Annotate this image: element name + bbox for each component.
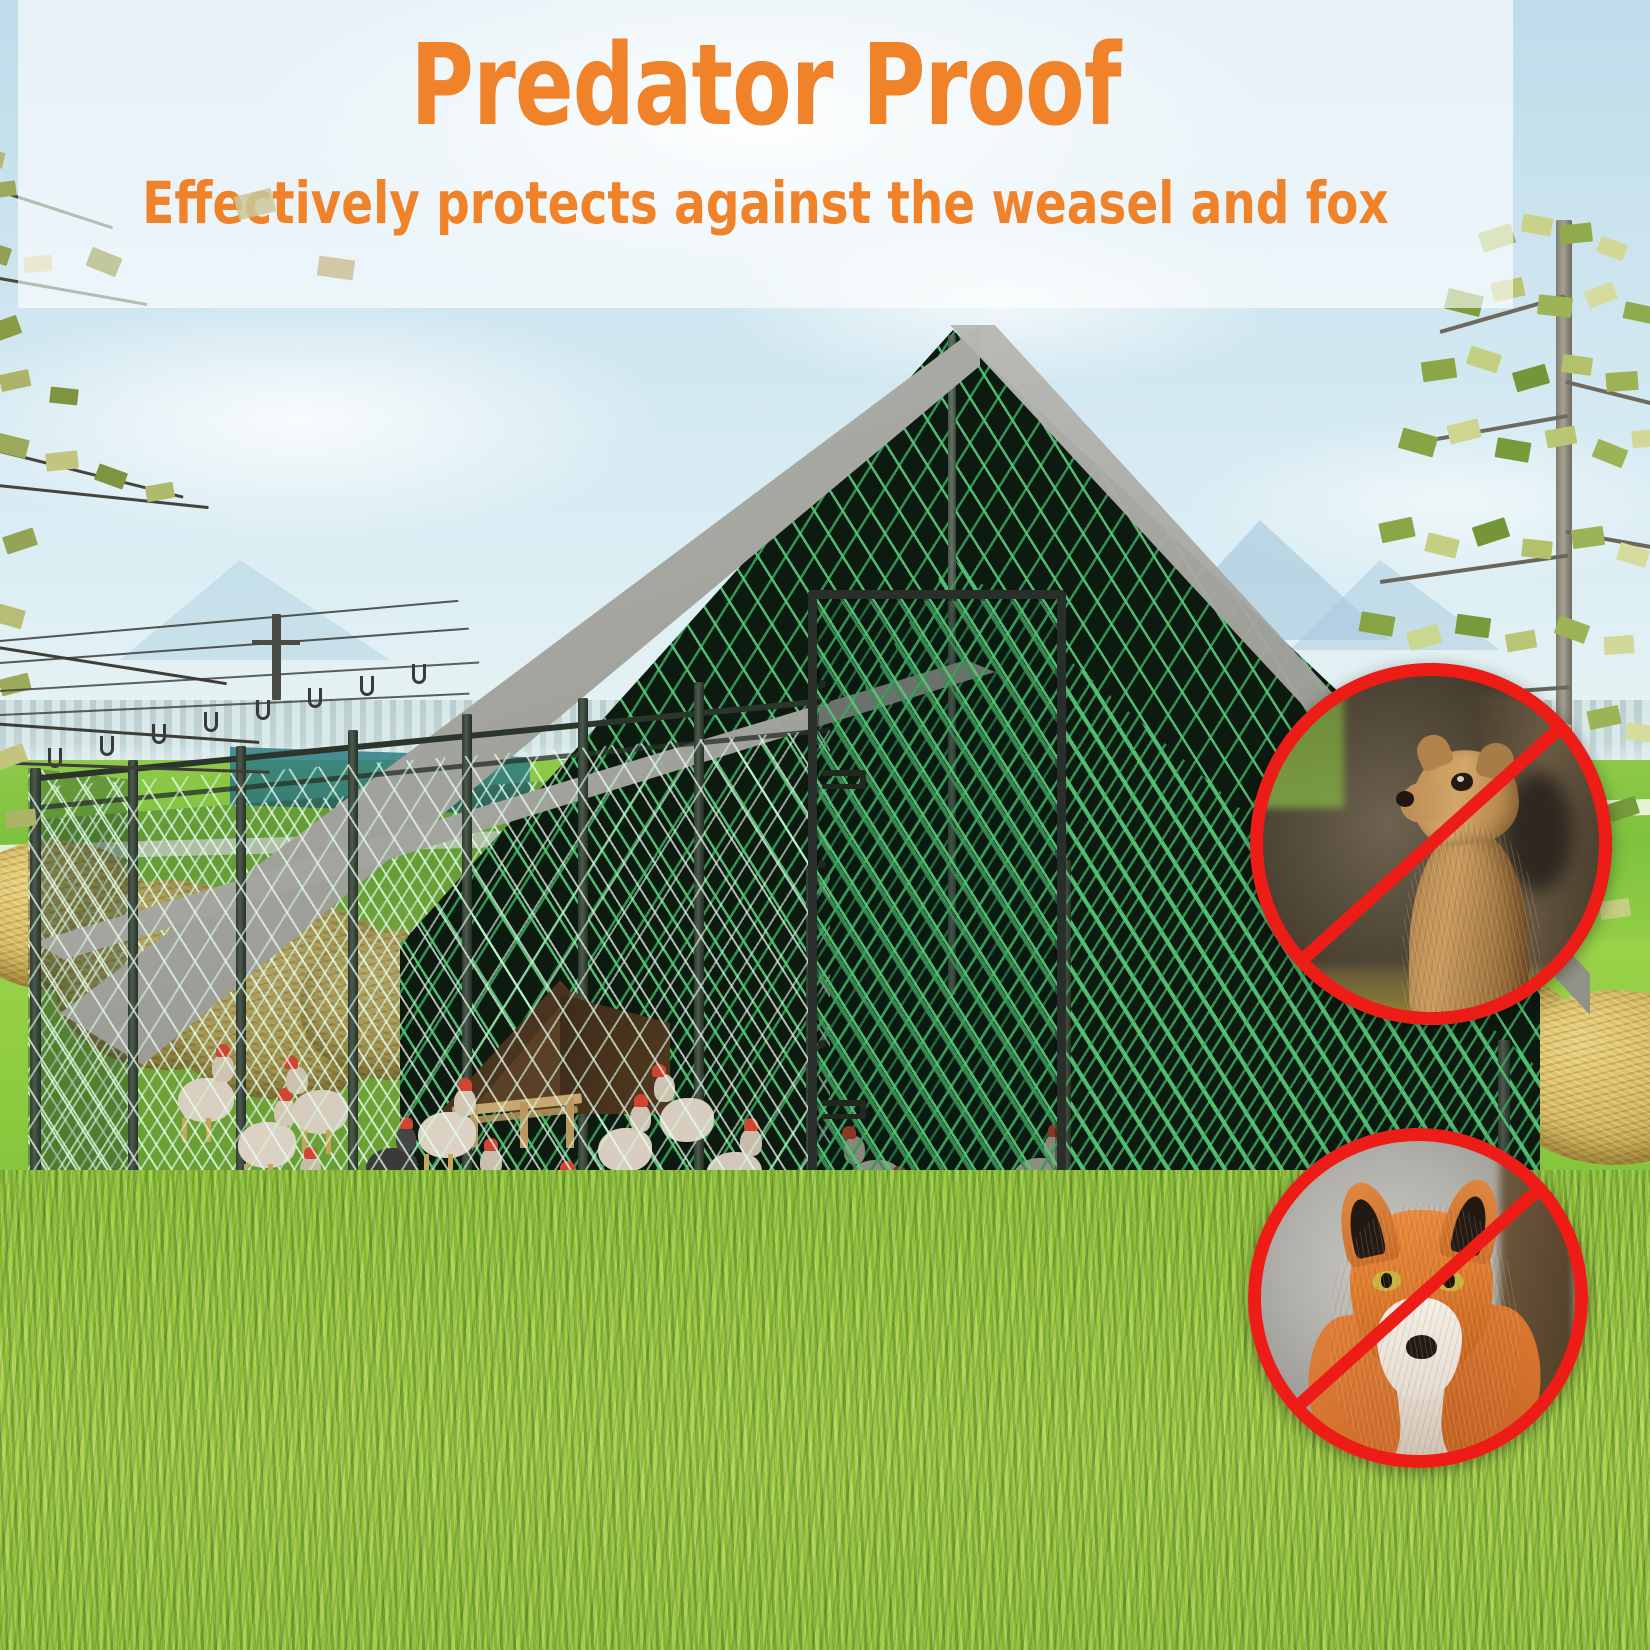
gate-rivet bbox=[818, 860, 826, 868]
tarp-hook bbox=[360, 676, 374, 696]
product-marketing-image: Predator Proof Effectively protects agai… bbox=[0, 0, 1650, 1650]
page-subtitle: Effectively protects against the weasel … bbox=[93, 172, 1439, 236]
gate-rivet bbox=[818, 680, 826, 688]
badge-no-weasel bbox=[1250, 663, 1612, 1025]
header-banner: Predator Proof Effectively protects agai… bbox=[18, 0, 1513, 308]
utility-crossarm bbox=[252, 640, 300, 645]
badge-no-fox bbox=[1248, 1128, 1588, 1468]
prohibition-ring bbox=[1248, 1128, 1588, 1468]
gate-rivet bbox=[818, 1040, 826, 1048]
utility-pole bbox=[272, 614, 281, 700]
prohibition-ring bbox=[1250, 663, 1612, 1025]
tarp-hook bbox=[308, 688, 322, 708]
page-title: Predator Proof bbox=[123, 28, 1409, 146]
